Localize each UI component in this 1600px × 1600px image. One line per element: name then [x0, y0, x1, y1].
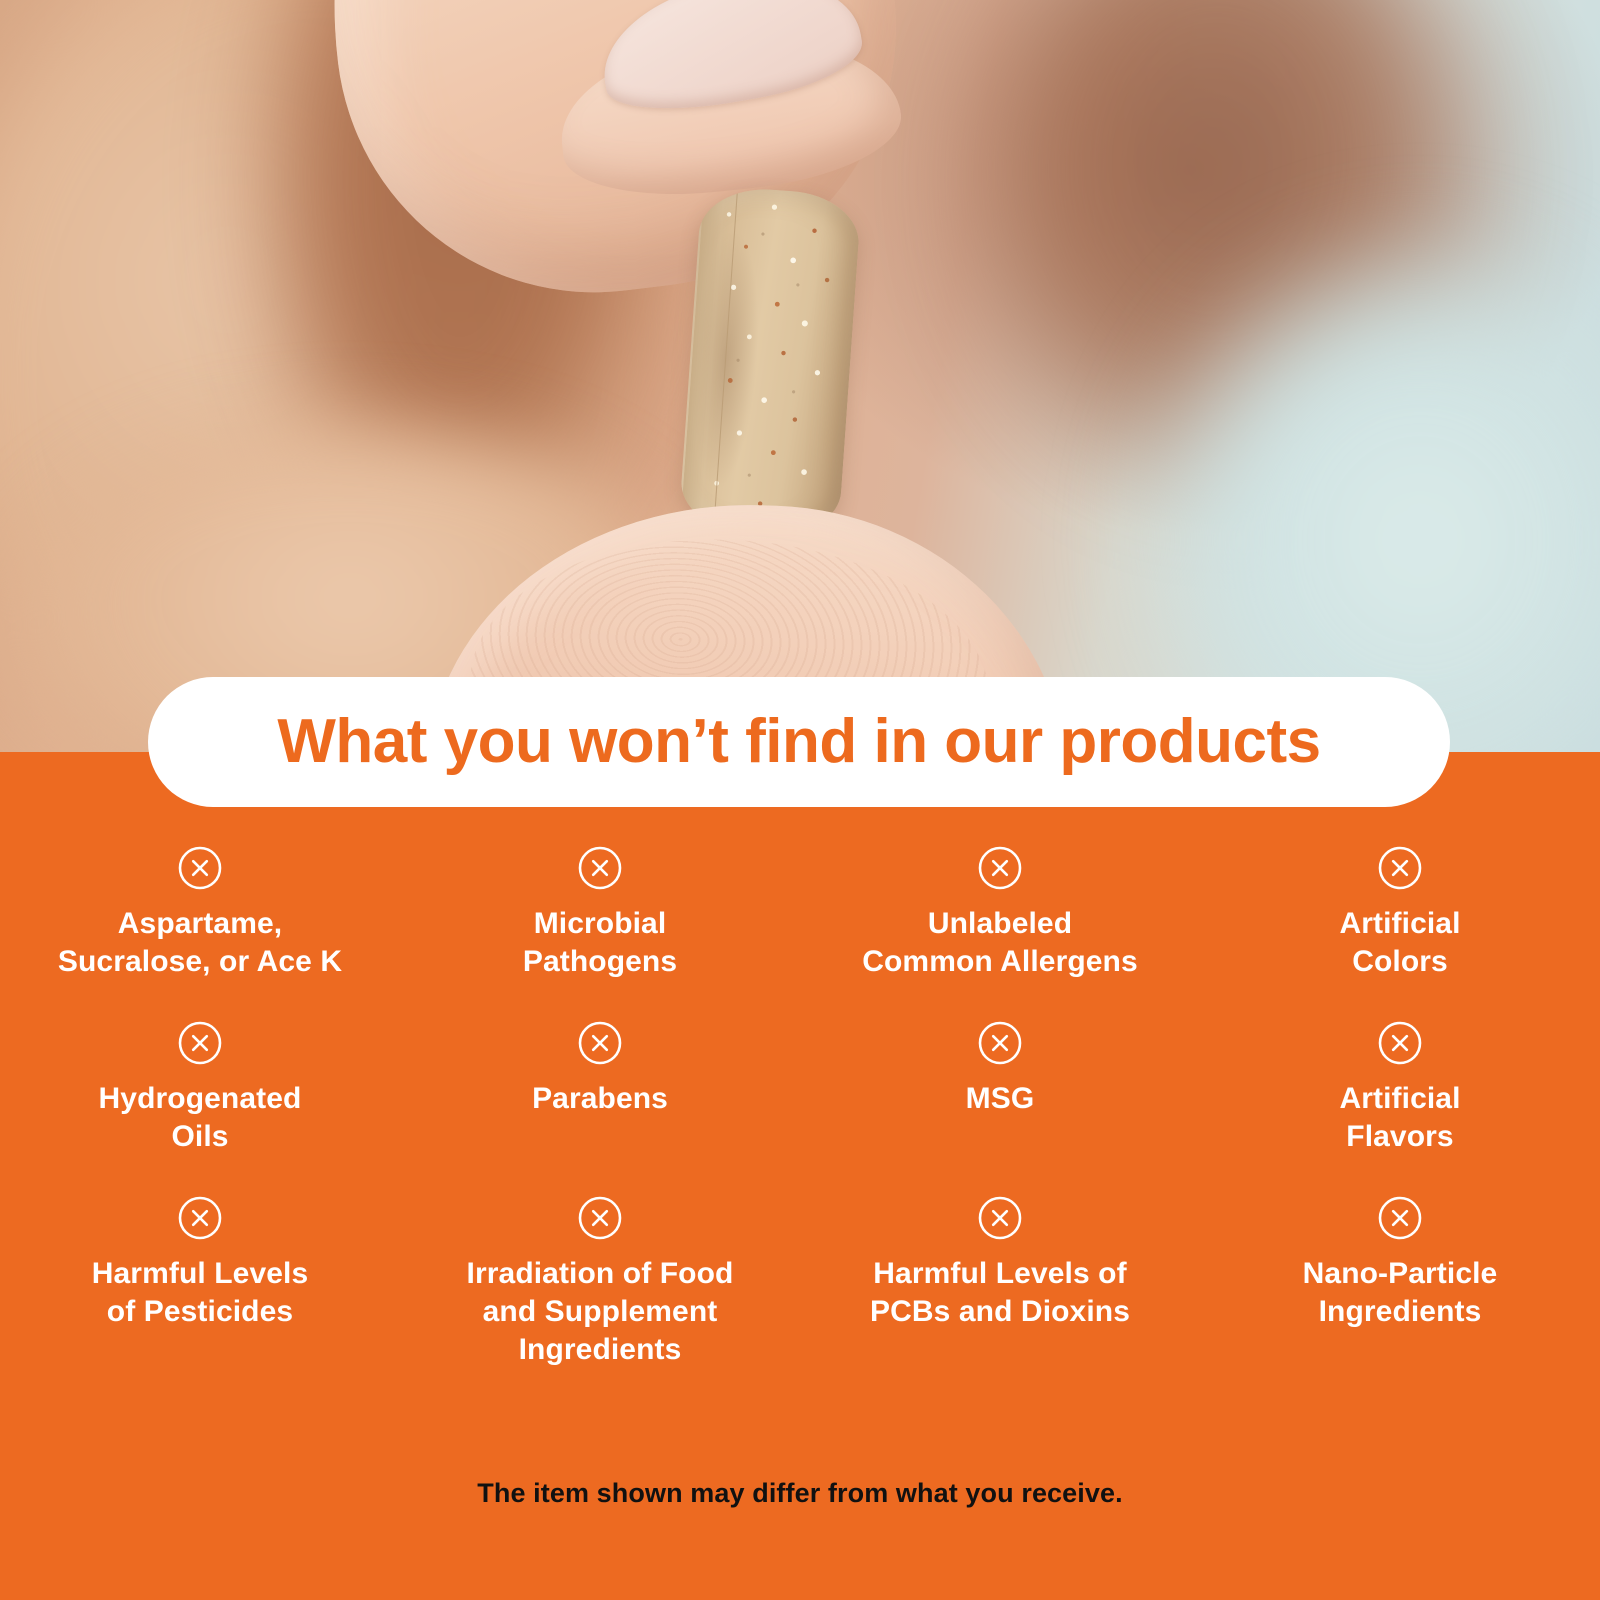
circle-x-icon [577, 845, 623, 891]
product-infographic-poster: What you won’t find in our products Aspa… [0, 0, 1600, 1600]
grid-item-label: Harmful Levels of Pesticides [92, 1255, 308, 1332]
grid-item-label: MSG [966, 1080, 1035, 1118]
circle-x-icon [1377, 1020, 1423, 1066]
grid-item: Parabens [400, 1020, 800, 1157]
circle-x-icon [977, 845, 1023, 891]
grid-item-label: Irradiation of Food and Supplement Ingre… [467, 1255, 734, 1370]
grid-item: Unlabeled Common Allergens [800, 845, 1200, 982]
excluded-ingredients-grid: Aspartame, Sucralose, or Ace K Microbial… [0, 845, 1600, 1370]
headline-part-after: find in our products [728, 707, 1320, 776]
grid-item-label: Microbial Pathogens [523, 905, 677, 982]
grid-item: Microbial Pathogens [400, 845, 800, 982]
grid-item: Harmful Levels of Pesticides [0, 1195, 400, 1370]
grid-item: Artificial Flavors [1200, 1020, 1600, 1157]
grid-item-label: Hydrogenated Oils [99, 1080, 302, 1157]
grid-item: MSG [800, 1020, 1200, 1157]
hero-photo [0, 0, 1600, 752]
grid-item: Harmful Levels of PCBs and Dioxins [800, 1195, 1200, 1370]
grid-item: Aspartame, Sucralose, or Ace K [0, 845, 400, 982]
headline-part-emphasis: won’t [569, 707, 728, 776]
grid-item-label: Artificial Colors [1339, 905, 1460, 982]
circle-x-icon [177, 1195, 223, 1241]
grid-item-label: Harmful Levels of PCBs and Dioxins [870, 1255, 1130, 1332]
circle-x-icon [177, 1020, 223, 1066]
grid-item: Irradiation of Food and Supplement Ingre… [400, 1195, 800, 1370]
grid-item: Artificial Colors [1200, 845, 1600, 982]
headline-part-before: What you [277, 707, 569, 776]
grid-item-label: Unlabeled Common Allergens [862, 905, 1138, 982]
circle-x-icon [177, 845, 223, 891]
circle-x-icon [977, 1195, 1023, 1241]
grid-item: Hydrogenated Oils [0, 1020, 400, 1157]
disclaimer-text: The item shown may differ from what you … [477, 1478, 1122, 1508]
circle-x-icon [577, 1020, 623, 1066]
headline-banner: What you won’t find in our products [148, 677, 1450, 807]
circle-x-icon [1377, 845, 1423, 891]
grid-item-label: Artificial Flavors [1339, 1080, 1460, 1157]
grid-item-label: Aspartame, Sucralose, or Ace K [58, 905, 342, 982]
footer: The item shown may differ from what you … [0, 1478, 1600, 1509]
circle-x-icon [1377, 1195, 1423, 1241]
circle-x-icon [977, 1020, 1023, 1066]
grid-item-label: Nano-Particle Ingredients [1303, 1255, 1498, 1332]
circle-x-icon [577, 1195, 623, 1241]
page-title: What you won’t find in our products [277, 711, 1320, 773]
supplement-tablet [678, 185, 862, 540]
grid-item-label: Parabens [532, 1080, 668, 1118]
grid-item: Nano-Particle Ingredients [1200, 1195, 1600, 1370]
